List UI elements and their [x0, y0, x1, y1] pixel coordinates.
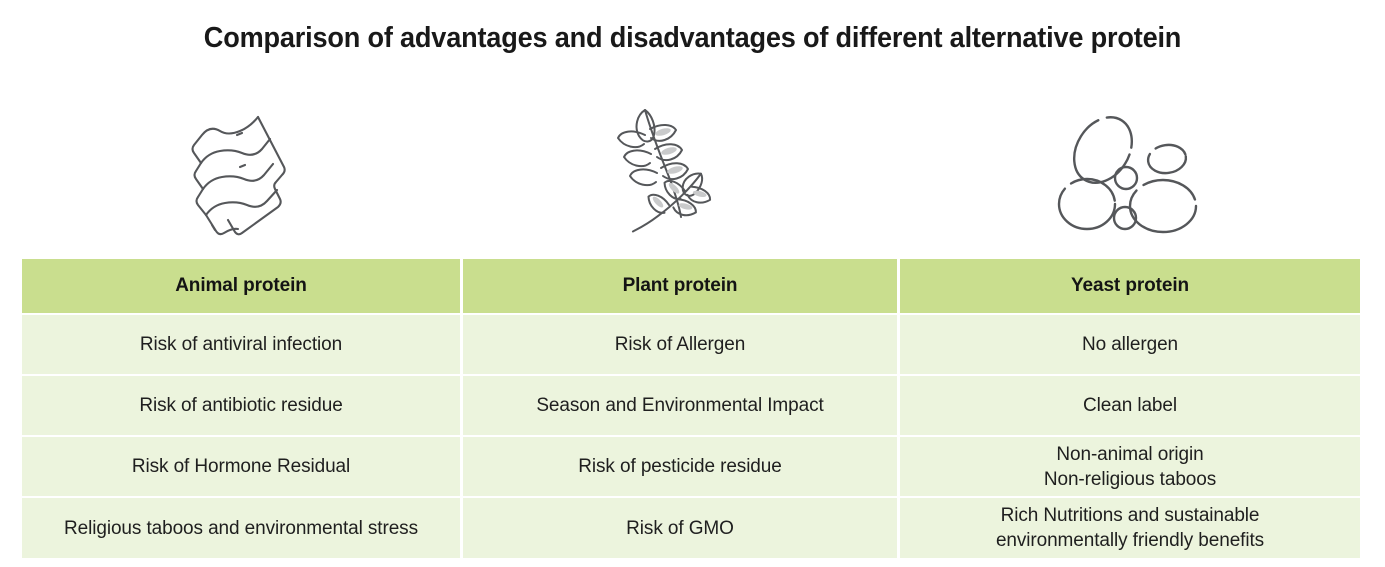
cell-yeast-3: Non-animal origin Non-religious taboos — [900, 437, 1360, 496]
column-header-yeast-protein: Yeast protein — [900, 259, 1360, 313]
cell-text: Risk of antiviral infection — [28, 332, 454, 357]
cell-animal-1: Risk of antiviral infection — [22, 315, 460, 374]
table-header-row: Animal protein Plant protein Yeast prote… — [22, 259, 1360, 313]
table-row: Risk of antiviral infection Risk of Alle… — [22, 315, 1360, 374]
icon-cell-yeast-protein — [897, 100, 1360, 245]
cell-text: Risk of antibiotic residue — [28, 393, 454, 418]
cell-text: Season and Environmental Impact — [469, 393, 891, 418]
cell-text: Risk of Allergen — [469, 332, 891, 357]
meat-slice-icon — [180, 107, 300, 239]
cell-text: Religious taboos and environmental stres… — [28, 516, 454, 541]
cell-text: Clean label — [906, 393, 1354, 418]
icon-cell-animal-protein — [19, 100, 460, 245]
icon-band — [19, 100, 1360, 245]
column-header-animal-protein: Animal protein — [22, 259, 460, 313]
cell-yeast-4: Rich Nutritions and sustainable environm… — [900, 498, 1360, 558]
cell-text: Risk of Hormone Residual — [28, 454, 454, 479]
table-row: Risk of antibiotic residue Season and En… — [22, 376, 1360, 435]
cell-text: Risk of pesticide residue — [469, 454, 891, 479]
table-row: Religious taboos and environmental stres… — [22, 498, 1360, 558]
comparison-table: Animal protein Plant protein Yeast prote… — [19, 257, 1363, 560]
cell-text: environmentally friendly benefits — [906, 528, 1354, 553]
yeast-cells-icon — [1055, 112, 1203, 234]
icon-cell-plant-protein — [460, 100, 897, 245]
cell-animal-3: Risk of Hormone Residual — [22, 437, 460, 496]
cell-plant-4: Risk of GMO — [463, 498, 897, 558]
cell-animal-4: Religious taboos and environmental stres… — [22, 498, 460, 558]
cell-text: Rich Nutritions and sustainable — [906, 503, 1354, 528]
cell-animal-2: Risk of antibiotic residue — [22, 376, 460, 435]
cell-plant-2: Season and Environmental Impact — [463, 376, 897, 435]
cell-yeast-2: Clean label — [900, 376, 1360, 435]
leaf-branches-icon — [609, 105, 749, 240]
cell-text: Non-religious taboos — [906, 467, 1354, 492]
cell-text: No allergen — [906, 332, 1354, 357]
cell-yeast-1: No allergen — [900, 315, 1360, 374]
column-header-plant-protein: Plant protein — [463, 259, 897, 313]
table-row: Risk of Hormone Residual Risk of pestici… — [22, 437, 1360, 496]
cell-text: Risk of GMO — [469, 516, 891, 541]
cell-plant-1: Risk of Allergen — [463, 315, 897, 374]
page-title: Comparison of advantages and disadvantag… — [45, 22, 1340, 55]
cell-text: Non-animal origin — [906, 442, 1354, 467]
cell-plant-3: Risk of pesticide residue — [463, 437, 897, 496]
